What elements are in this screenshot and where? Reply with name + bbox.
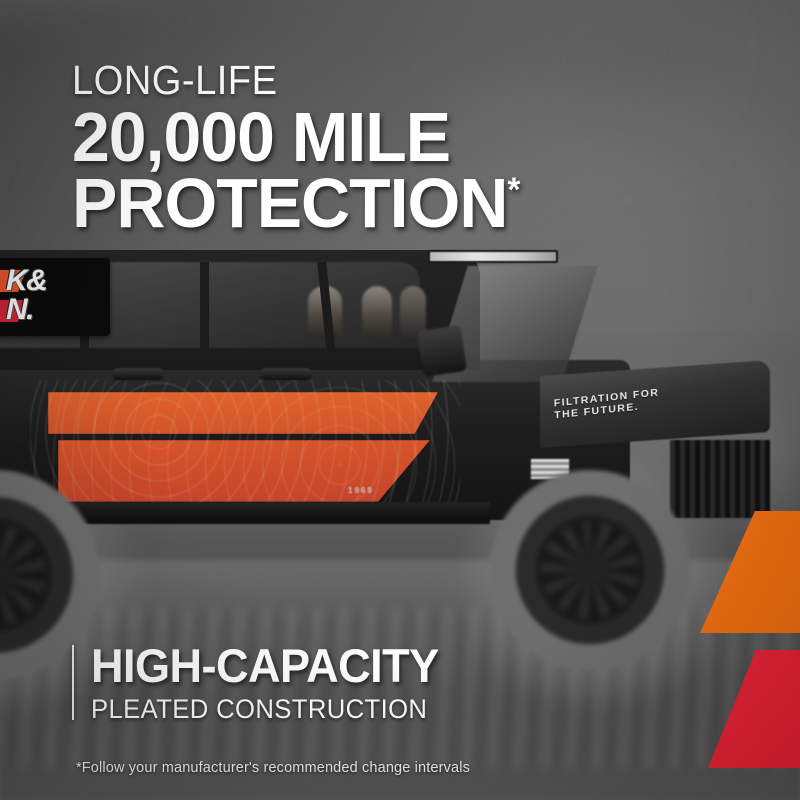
vehicle-pillar	[200, 262, 209, 354]
subheadline-title: HIGH-CAPACITY	[91, 641, 439, 691]
vehicle-side-mirror	[417, 325, 467, 377]
vehicle-jeep-wrangler: FILTRATION FOR THE FUTURE. 1969	[0, 240, 760, 640]
kn-logo-line-1: K&	[6, 266, 46, 295]
vehicle-light-bar	[428, 250, 558, 263]
vehicle-body-graphic-upper	[48, 392, 438, 434]
kn-logo-line-2: N.	[6, 295, 46, 324]
headline-line-2-text: PROTECTION	[72, 164, 507, 242]
headline-line-2: PROTECTION*	[72, 170, 712, 236]
vehicle-body-graphic-lower	[58, 440, 430, 502]
kn-logo-wordmark: K& N.	[6, 266, 46, 324]
vehicle-grille	[670, 440, 770, 518]
vehicle-rocker-panel	[60, 502, 490, 524]
headline-eyebrow: LONG-LIFE	[72, 58, 686, 102]
kn-logo: K& N.	[0, 258, 110, 336]
headline-asterisk: *	[507, 171, 519, 209]
subheadline-block: HIGH-CAPACITY PLEATED CONSTRUCTION	[72, 641, 453, 724]
vehicle-door-handle	[112, 368, 164, 380]
headline-block: LONG-LIFE 20,000 MILE PROTECTION*	[72, 58, 732, 236]
footnote-disclaimer: *Follow your manufacturer's recommended …	[76, 760, 470, 776]
vehicle-door-handle	[260, 368, 312, 380]
vehicle-occupant	[362, 286, 392, 338]
promo-banner: FILTRATION FOR THE FUTURE. 1969 K& N. LO…	[0, 0, 800, 800]
subheadline-divider	[72, 645, 74, 720]
subheadline-subtitle: PLEATED CONSTRUCTION	[91, 694, 435, 724]
vehicle-year-badge: 1969	[348, 486, 374, 495]
vehicle-wheel-front	[490, 470, 690, 670]
headline-main: 20,000 MILE PROTECTION*	[72, 104, 712, 236]
subheadline-text: HIGH-CAPACITY PLEATED CONSTRUCTION	[91, 641, 453, 724]
